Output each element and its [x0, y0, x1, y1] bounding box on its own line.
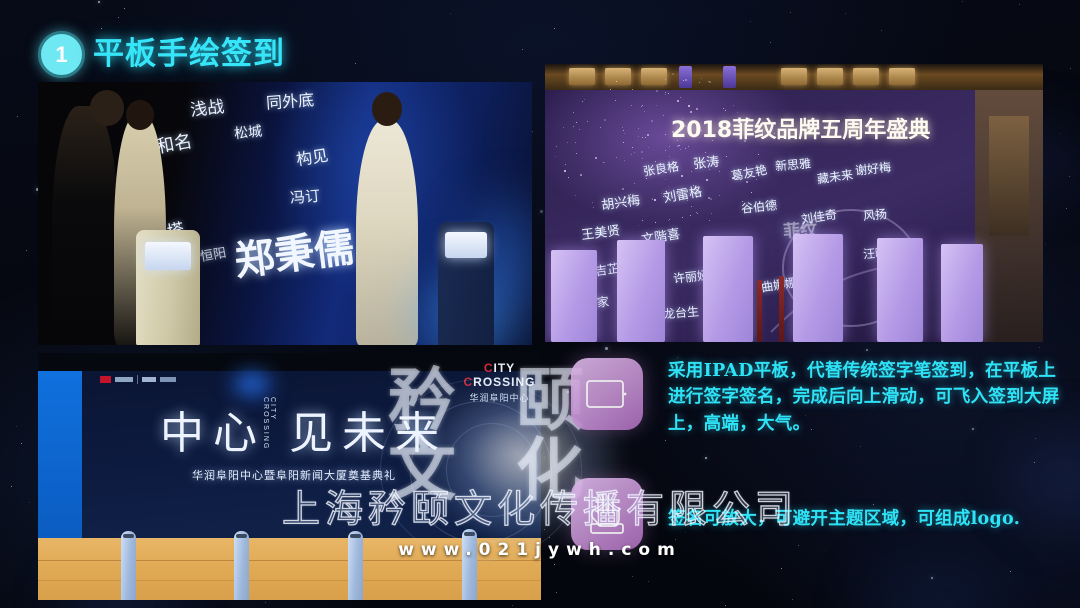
description-block: 采用IPAD平板，代替传统签字笔签到，在平板上进行签字签名，完成后向上滑动，可飞… — [668, 358, 1068, 437]
signing-kiosk — [136, 230, 200, 345]
led-brand-en: CITY CROSSING — [262, 397, 276, 461]
ceiling-light — [853, 68, 879, 85]
display-plinth — [703, 236, 753, 342]
description-paragraph-2: 签名可放大，可避开主题区域，可组成logo. — [668, 506, 1068, 532]
stanchion-post — [757, 280, 762, 342]
signature-text: 冯订 — [289, 185, 321, 209]
event-logo-block: CITY CROSSING 华润阜阳中心 — [458, 361, 541, 404]
slide-stage: 1 平板手绘签到 浅战 同外底 和名 松城 构见 知林 多塔 冯订 恒阳 郑秉儒 — [0, 0, 1080, 608]
display-plinth — [877, 238, 923, 342]
venue-doorway — [989, 116, 1029, 236]
signature-text: 同外底 — [265, 86, 315, 113]
stanchion-post — [779, 276, 784, 342]
stage-light-glow — [234, 373, 270, 395]
signing-pillar — [348, 531, 363, 600]
tablet-glyph — [585, 378, 629, 410]
kiosk-tablet-screen — [145, 242, 191, 270]
photo-top-left[interactable]: 浅战 同外底 和名 松城 构见 知林 多塔 冯订 恒阳 郑秉儒 — [38, 82, 532, 345]
attendee-silhouette — [52, 106, 118, 345]
attendee-head — [90, 90, 124, 126]
led-subtitle: 华润阜阳中心暨阜阳新闻大厦奠基典礼 — [192, 467, 396, 483]
signature-text: 松城 — [233, 121, 263, 144]
attendee-head — [126, 100, 154, 130]
ceiling-light — [781, 68, 807, 85]
signature-text: 龙台生 — [662, 302, 699, 322]
description-paragraph-1: 采用IPAD平板，代替传统签字笔签到，在平板上进行签字签名，完成后向上滑动，可飞… — [668, 358, 1068, 437]
signing-pillar — [234, 531, 249, 600]
page-title: 平板手绘签到 — [93, 28, 285, 73]
photo-top-right[interactable]: 2018菲纹品牌五周年盛典 张良格 张涛 葛友艳 新思雅 藏未来 谢好梅 胡兴梅… — [545, 64, 1043, 342]
event-logo-sub: 华润阜阳中心 — [458, 391, 541, 404]
led-corner-logos — [100, 375, 176, 384]
ceiling-light — [679, 66, 692, 88]
signature-text: 张涛 — [692, 151, 720, 173]
ceiling-light — [817, 68, 843, 85]
step-number-badge: 1 — [38, 31, 85, 78]
signing-pillar — [121, 531, 136, 600]
signature-text: 构见 — [294, 142, 329, 171]
hand-glyph — [584, 492, 630, 536]
tablet-icon[interactable] — [571, 358, 643, 430]
display-plinth — [793, 234, 843, 342]
ceiling-light — [723, 66, 736, 88]
screen-headline: 2018菲纹品牌五周年盛典 — [671, 112, 930, 144]
light-swoosh — [741, 182, 961, 342]
signature-text: 新思雅 — [774, 154, 811, 174]
display-plinth — [551, 250, 597, 342]
ceiling-light — [605, 68, 631, 85]
ceiling-light — [889, 68, 915, 85]
display-plinth — [941, 244, 983, 342]
ceiling-light — [569, 68, 595, 85]
presenter-silhouette — [356, 120, 418, 345]
signing-pillar — [462, 529, 477, 600]
description-block-2: 签名可放大，可避开主题区域，可组成logo. — [668, 488, 1068, 549]
presenter-head — [372, 92, 402, 126]
signature-text: 浅战 — [189, 92, 226, 121]
display-plinth — [617, 240, 665, 342]
led-headline: 中心 见未来 — [160, 397, 448, 461]
hand-touch-icon[interactable] — [571, 478, 643, 550]
ceiling-light — [641, 68, 667, 85]
photo-bottom-left[interactable]: 中心 见未来 CITY CROSSING 华润阜阳中心暨阜阳新闻大厦奠基典礼 C… — [38, 353, 541, 600]
kiosk-tablet-screen — [445, 232, 487, 258]
signing-kiosk — [438, 222, 494, 345]
